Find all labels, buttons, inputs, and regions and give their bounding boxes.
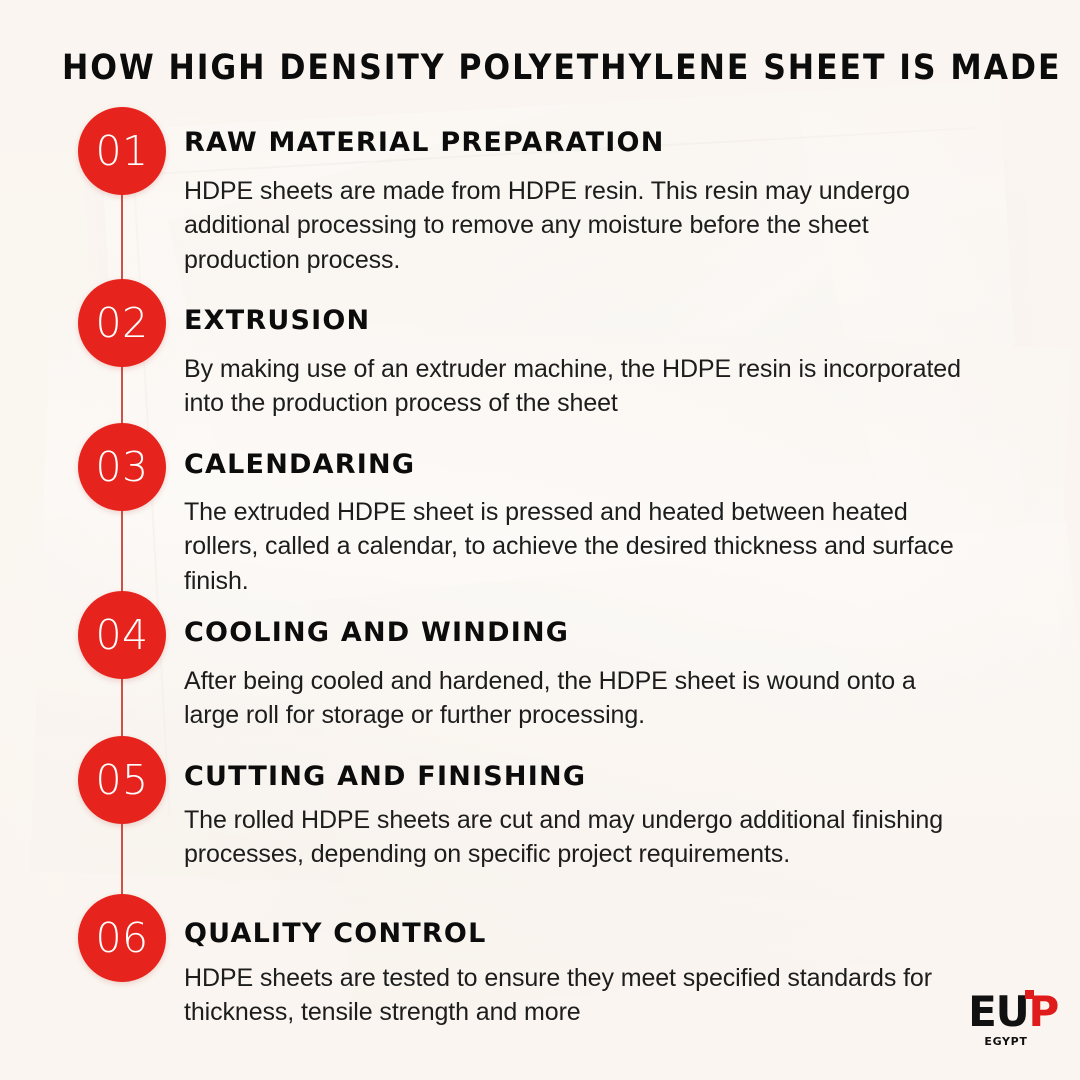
step-heading-04: COOLING AND WINDING <box>184 617 569 648</box>
step-body-05: The rolled HDPE sheets are cut and may u… <box>184 803 974 872</box>
step-number-badge-02: 02 <box>78 279 166 367</box>
step-number-badge-05: 05 <box>78 736 166 824</box>
step-heading-03: CALENDARING <box>184 449 415 480</box>
timeline-connector-line <box>121 150 123 950</box>
step-number-badge-03: 03 <box>78 423 166 511</box>
step-body-04: After being cooled and hardened, the HDP… <box>184 664 974 733</box>
logo-wordmark: EUP <box>968 992 1058 1032</box>
step-heading-02: EXTRUSION <box>184 305 370 336</box>
logo-letter-u: U <box>996 987 1029 1036</box>
step-body-02: By making use of an extruder machine, th… <box>184 352 974 421</box>
logo-dot-icon <box>1025 990 1034 999</box>
step-number-badge-04: 04 <box>78 591 166 679</box>
step-heading-06: QUALITY CONTROL <box>184 918 487 949</box>
step-body-03: The extruded HDPE sheet is pressed and h… <box>184 495 974 598</box>
step-number-badge-06: 06 <box>78 894 166 982</box>
step-body-06: HDPE sheets are tested to ensure they me… <box>184 961 974 1030</box>
step-heading-05: CUTTING AND FINISHING <box>184 761 586 792</box>
logo-subtitle: EGYPT <box>958 1035 1058 1048</box>
step-heading-01: RAW MATERIAL PREPARATION <box>184 127 665 158</box>
steps-timeline: 01 RAW MATERIAL PREPARATION HDPE sheets … <box>0 0 1080 1080</box>
infographic-canvas: HOW HIGH DENSITY POLYETHYLENE SHEET IS M… <box>0 0 1080 1080</box>
step-number-badge-01: 01 <box>78 107 166 195</box>
step-body-01: HDPE sheets are made from HDPE resin. Th… <box>184 174 974 277</box>
